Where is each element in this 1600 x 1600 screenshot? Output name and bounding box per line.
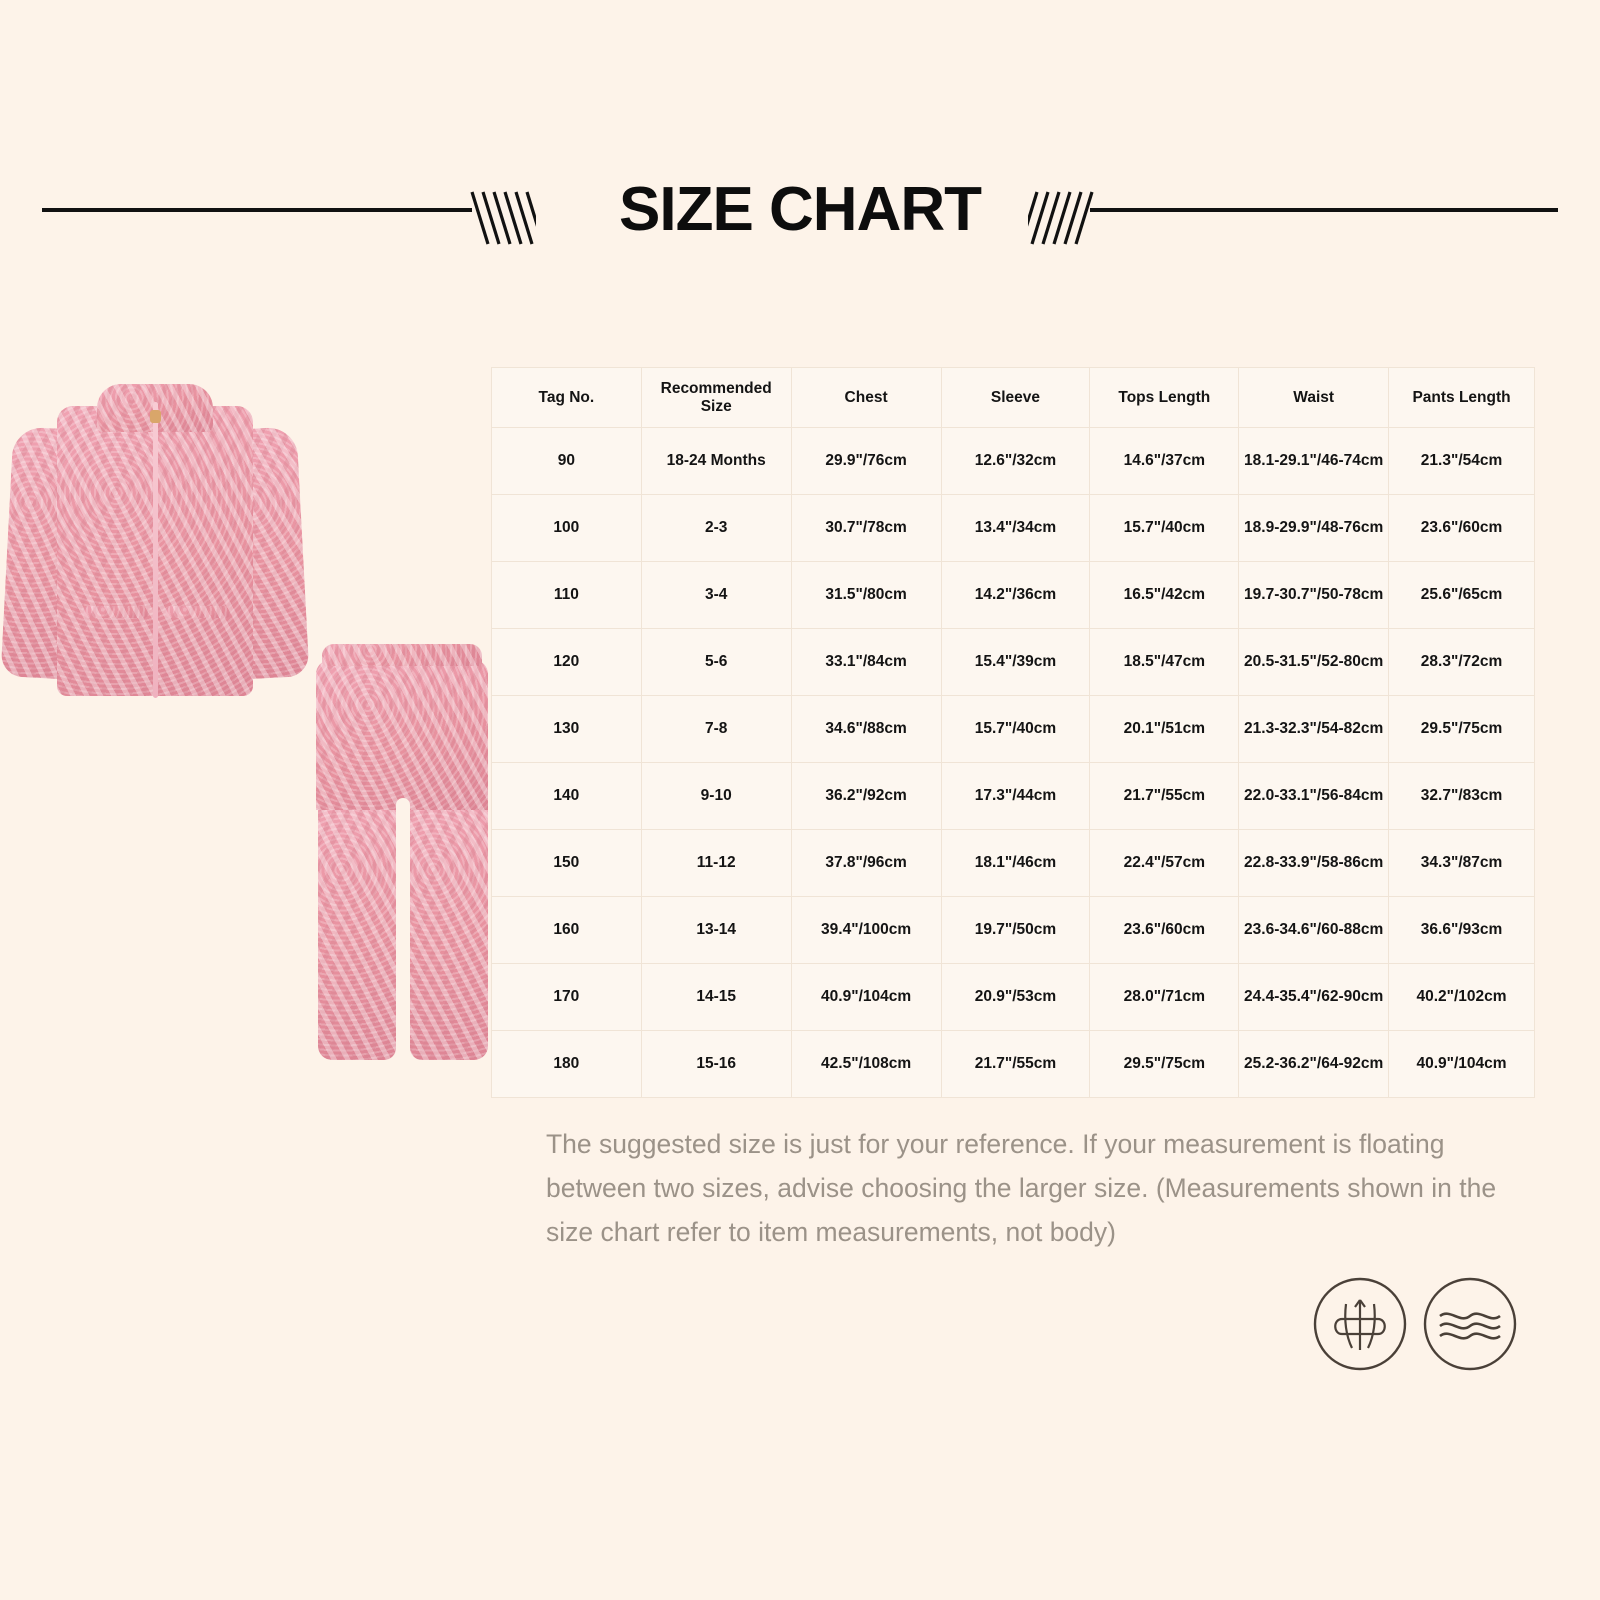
- jacket-image: [5, 380, 305, 710]
- cell-tops-length: 22.4"/57cm: [1090, 830, 1239, 897]
- column-header-recommended-size: Recommended Size: [641, 368, 791, 428]
- table-row: 17014-1540.9"/104cm20.9"/53cm28.0"/71cm2…: [492, 964, 1535, 1031]
- cell-recommended-size: 2-3: [641, 495, 791, 562]
- cell-tops-length: 28.0"/71cm: [1090, 964, 1239, 1031]
- cell-tops-length: 16.5"/42cm: [1090, 562, 1239, 629]
- pants-image: [302, 638, 502, 1070]
- cell-sleeve: 15.7"/40cm: [941, 696, 1090, 763]
- cell-sleeve: 12.6"/32cm: [941, 428, 1090, 495]
- cell-sleeve: 20.9"/53cm: [941, 964, 1090, 1031]
- cell-pants-length: 28.3"/72cm: [1389, 629, 1535, 696]
- jacket-right-pocket: [165, 606, 231, 618]
- cell-pants-length: 36.6"/93cm: [1389, 897, 1535, 964]
- cell-pants-length: 32.7"/83cm: [1389, 763, 1535, 830]
- cell-tag-no: 130: [492, 696, 642, 763]
- jacket-zipper-pull: [150, 410, 161, 423]
- cell-chest: 40.9"/104cm: [791, 964, 941, 1031]
- cell-recommended-size: 9-10: [641, 763, 791, 830]
- cell-sleeve: 15.4"/39cm: [941, 629, 1090, 696]
- table-row: 1205-633.1"/84cm15.4"/39cm18.5"/47cm20.5…: [492, 629, 1535, 696]
- cell-chest: 36.2"/92cm: [791, 763, 941, 830]
- table-row: 1103-431.5"/80cm14.2"/36cm16.5"/42cm19.7…: [492, 562, 1535, 629]
- cell-chest: 30.7"/78cm: [791, 495, 941, 562]
- cell-tops-length: 23.6"/60cm: [1090, 897, 1239, 964]
- cell-tag-no: 170: [492, 964, 642, 1031]
- cell-tops-length: 18.5"/47cm: [1090, 629, 1239, 696]
- care-icon-group: [1308, 1272, 1534, 1382]
- table-row: 16013-1439.4"/100cm19.7"/50cm23.6"/60cm2…: [492, 897, 1535, 964]
- pants-right-leg: [410, 788, 488, 1060]
- cell-recommended-size: 14-15: [641, 964, 791, 1031]
- page-title: SIZE CHART: [0, 150, 1600, 270]
- table-row: 1409-1036.2"/92cm17.3"/44cm21.7"/55cm22.…: [492, 763, 1535, 830]
- table-header-row: Tag No. Recommended Size Chest Sleeve To…: [492, 368, 1535, 428]
- column-header-chest: Chest: [791, 368, 941, 428]
- water-wave-icon: [1418, 1272, 1522, 1376]
- pants-hip: [316, 660, 488, 810]
- product-image-group: [0, 370, 500, 1090]
- table-row: 1002-330.7"/78cm13.4"/34cm15.7"/40cm18.9…: [492, 495, 1535, 562]
- cell-tops-length: 29.5"/75cm: [1090, 1031, 1239, 1098]
- pants-inseam-gap: [396, 798, 410, 1060]
- column-header-waist: Waist: [1239, 368, 1389, 428]
- cell-tag-no: 120: [492, 629, 642, 696]
- cell-waist: 19.7-30.7"/50-78cm: [1239, 562, 1389, 629]
- column-header-sleeve: Sleeve: [941, 368, 1090, 428]
- cell-pants-length: 23.6"/60cm: [1389, 495, 1535, 562]
- cell-recommended-size: 11-12: [641, 830, 791, 897]
- table-row: 18015-1642.5"/108cm21.7"/55cm29.5"/75cm2…: [492, 1031, 1535, 1098]
- pants-waistband: [322, 644, 482, 666]
- cell-pants-length: 40.2"/102cm: [1389, 964, 1535, 1031]
- cell-recommended-size: 18-24 Months: [641, 428, 791, 495]
- jacket-left-pocket: [83, 606, 149, 618]
- cell-tag-no: 140: [492, 763, 642, 830]
- cell-tag-no: 180: [492, 1031, 642, 1098]
- cell-recommended-size: 3-4: [641, 562, 791, 629]
- cell-waist: 25.2-36.2"/64-92cm: [1239, 1031, 1389, 1098]
- cell-tops-length: 20.1"/51cm: [1090, 696, 1239, 763]
- cell-tag-no: 100: [492, 495, 642, 562]
- cell-waist: 22.0-33.1"/56-84cm: [1239, 763, 1389, 830]
- cell-waist: 21.3-32.3"/54-82cm: [1239, 696, 1389, 763]
- cell-chest: 33.1"/84cm: [791, 629, 941, 696]
- cell-recommended-size: 15-16: [641, 1031, 791, 1098]
- cell-recommended-size: 5-6: [641, 629, 791, 696]
- cell-tops-length: 21.7"/55cm: [1090, 763, 1239, 830]
- cell-sleeve: 19.7"/50cm: [941, 897, 1090, 964]
- column-header-pants-length: Pants Length: [1389, 368, 1535, 428]
- cell-tops-length: 15.7"/40cm: [1090, 495, 1239, 562]
- cell-tag-no: 150: [492, 830, 642, 897]
- page-header: SIZE CHART: [0, 150, 1600, 270]
- pants-left-leg: [318, 788, 396, 1060]
- table-row: 15011-1237.8"/96cm18.1"/46cm22.4"/57cm22…: [492, 830, 1535, 897]
- fabric-thread-icon: [1308, 1272, 1412, 1376]
- cell-pants-length: 40.9"/104cm: [1389, 1031, 1535, 1098]
- jacket-zipper: [153, 402, 158, 698]
- cell-sleeve: 17.3"/44cm: [941, 763, 1090, 830]
- cell-recommended-size: 7-8: [641, 696, 791, 763]
- cell-pants-length: 29.5"/75cm: [1389, 696, 1535, 763]
- cell-tag-no: 110: [492, 562, 642, 629]
- cell-waist: 22.8-33.9"/58-86cm: [1239, 830, 1389, 897]
- cell-chest: 37.8"/96cm: [791, 830, 941, 897]
- table-row: 9018-24 Months29.9"/76cm12.6"/32cm14.6"/…: [492, 428, 1535, 495]
- cell-waist: 18.1-29.1"/46-74cm: [1239, 428, 1389, 495]
- cell-sleeve: 14.2"/36cm: [941, 562, 1090, 629]
- cell-chest: 39.4"/100cm: [791, 897, 941, 964]
- cell-sleeve: 21.7"/55cm: [941, 1031, 1090, 1098]
- cell-chest: 34.6"/88cm: [791, 696, 941, 763]
- cell-pants-length: 21.3"/54cm: [1389, 428, 1535, 495]
- cell-sleeve: 18.1"/46cm: [941, 830, 1090, 897]
- table-row: 1307-834.6"/88cm15.7"/40cm20.1"/51cm21.3…: [492, 696, 1535, 763]
- cell-waist: 24.4-35.4"/62-90cm: [1239, 964, 1389, 1031]
- size-chart-table: Tag No. Recommended Size Chest Sleeve To…: [491, 367, 1535, 1098]
- column-header-tag-no: Tag No.: [492, 368, 642, 428]
- cell-chest: 31.5"/80cm: [791, 562, 941, 629]
- cell-tag-no: 90: [492, 428, 642, 495]
- size-note-text: The suggested size is just for your refe…: [546, 1122, 1526, 1254]
- cell-recommended-size: 13-14: [641, 897, 791, 964]
- cell-sleeve: 13.4"/34cm: [941, 495, 1090, 562]
- cell-waist: 18.9-29.9"/48-76cm: [1239, 495, 1389, 562]
- cell-tag-no: 160: [492, 897, 642, 964]
- cell-pants-length: 25.6"/65cm: [1389, 562, 1535, 629]
- cell-chest: 29.9"/76cm: [791, 428, 941, 495]
- column-header-tops-length: Tops Length: [1090, 368, 1239, 428]
- cell-chest: 42.5"/108cm: [791, 1031, 941, 1098]
- cell-waist: 23.6-34.6"/60-88cm: [1239, 897, 1389, 964]
- cell-pants-length: 34.3"/87cm: [1389, 830, 1535, 897]
- cell-waist: 20.5-31.5"/52-80cm: [1239, 629, 1389, 696]
- cell-tops-length: 14.6"/37cm: [1090, 428, 1239, 495]
